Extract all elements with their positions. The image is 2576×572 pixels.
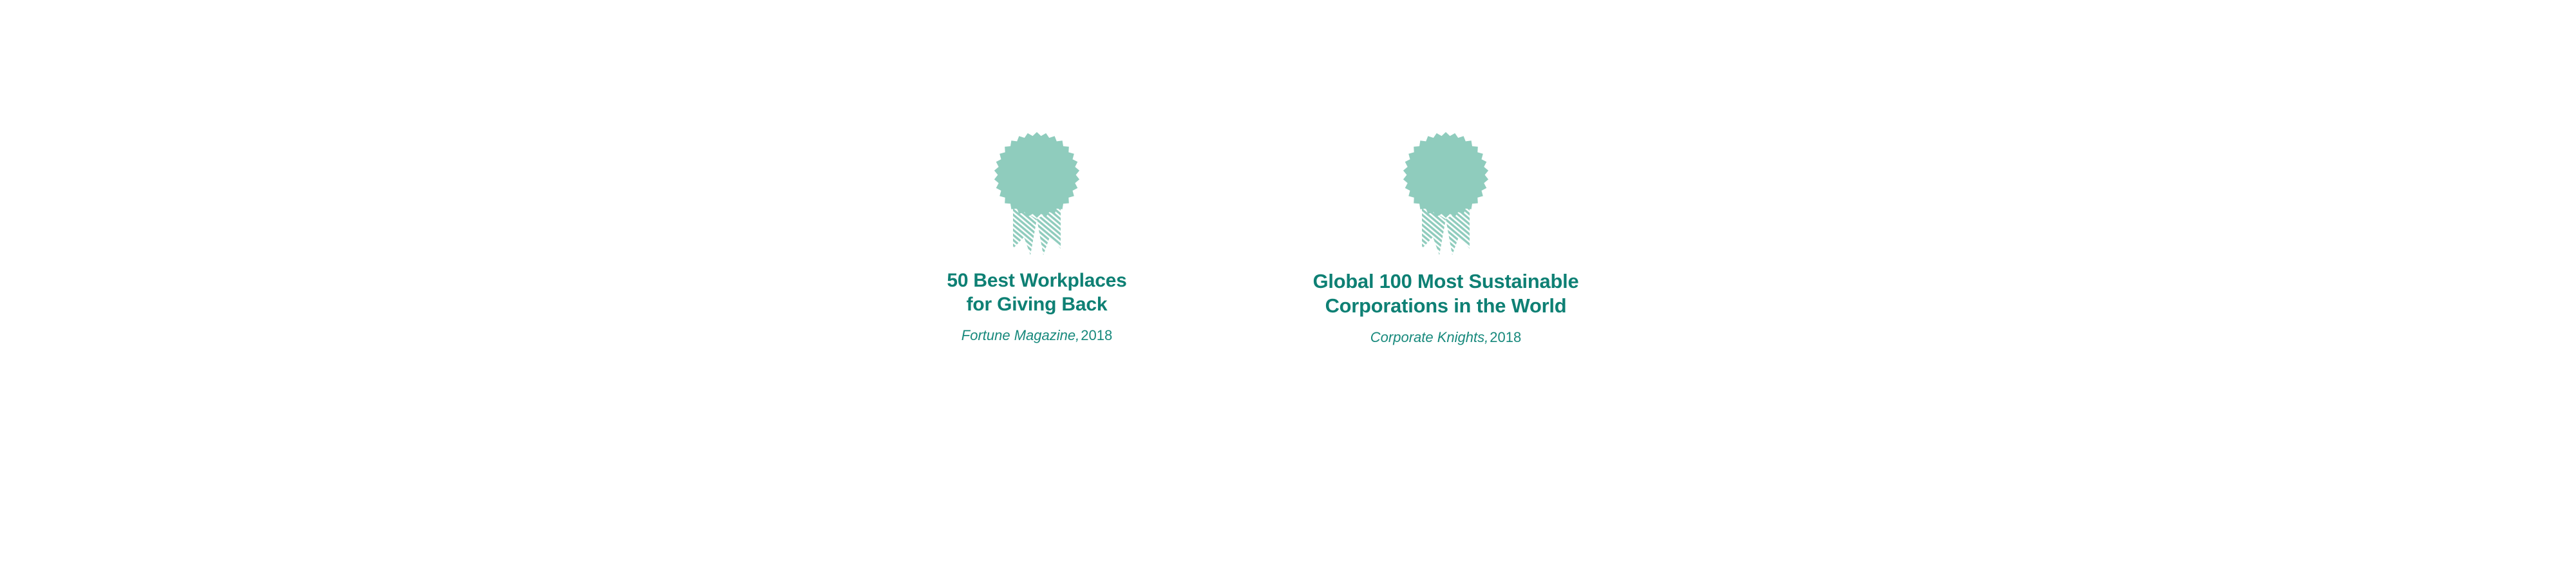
- award-title-line-1: 50 Best Workplaces: [882, 269, 1191, 293]
- award-rosette-icon: [985, 129, 1089, 255]
- award-publication: Corporate Knights,: [1370, 329, 1488, 345]
- award-year: 2018: [1081, 327, 1112, 343]
- award-title-line-2: Corporations in the World: [1222, 294, 1671, 318]
- award-source: Fortune Magazine,2018: [961, 327, 1112, 344]
- awards-strip: 50 Best Workplaces for Giving Back Fortu…: [0, 0, 2576, 572]
- award-publication: Fortune Magazine,: [961, 327, 1079, 343]
- award-title: Global 100 Most Sustainable Corporations…: [1222, 269, 1671, 318]
- award-title: 50 Best Workplaces for Giving Back: [882, 269, 1191, 316]
- award-year: 2018: [1490, 329, 1521, 345]
- award-source: Corporate Knights,2018: [1370, 329, 1521, 346]
- award-card: Global 100 Most Sustainable Corporations…: [1195, 0, 1697, 346]
- award-title-line-2: for Giving Back: [882, 293, 1191, 317]
- award-card: 50 Best Workplaces for Giving Back Fortu…: [879, 0, 1195, 344]
- award-title-line-1: Global 100 Most Sustainable: [1222, 269, 1671, 294]
- award-rosette-icon: [1394, 129, 1498, 255]
